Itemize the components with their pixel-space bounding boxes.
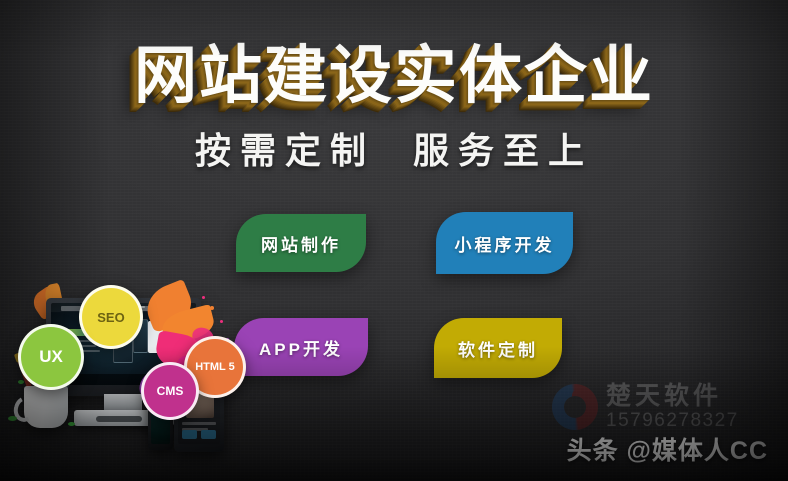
- service-pill-label-2: APP开发: [259, 335, 343, 360]
- service-pill-software-customization[interactable]: 软件定制: [434, 318, 562, 378]
- badge-cms: CMS: [141, 362, 199, 420]
- watermark: 楚天软件 15796278327: [552, 382, 739, 431]
- badge-ux-label: UX: [39, 347, 63, 367]
- company-logo-icon: [552, 384, 598, 430]
- banner-headline: 网站建设实体企业: [0, 45, 788, 108]
- monitor-stand-slot: [96, 416, 142, 422]
- service-pill-label-0: 网站制作: [261, 231, 341, 256]
- service-pill-label-3: 软件定制: [458, 336, 538, 361]
- service-pill-mini-program-development[interactable]: 小程序开发: [436, 212, 573, 274]
- badge-html5-label: HTML 5: [195, 361, 235, 373]
- service-pill-label-1: 小程序开发: [455, 231, 555, 256]
- watermark-company-name: 楚天软件: [606, 382, 739, 410]
- service-pill-app-development[interactable]: APP开发: [234, 318, 368, 376]
- badge-cms-label: CMS: [157, 384, 184, 398]
- promo-banner: SEO UX HTML 5 CMS 网站建设实体企业 按需定制 服务至上 网站制…: [0, 0, 788, 481]
- badge-seo-label: SEO: [97, 310, 124, 325]
- badge-ux: UX: [18, 324, 84, 390]
- watermark-phone-number: 15796278327: [606, 410, 739, 431]
- service-pill-website-production[interactable]: 网站制作: [236, 214, 366, 272]
- web-design-illustration: SEO UX HTML 5 CMS: [0, 276, 266, 481]
- author-byline: 头条 @媒体人CC: [567, 431, 768, 467]
- banner-subheadline: 按需定制 服务至上: [0, 133, 788, 169]
- badge-seo: SEO: [79, 285, 143, 349]
